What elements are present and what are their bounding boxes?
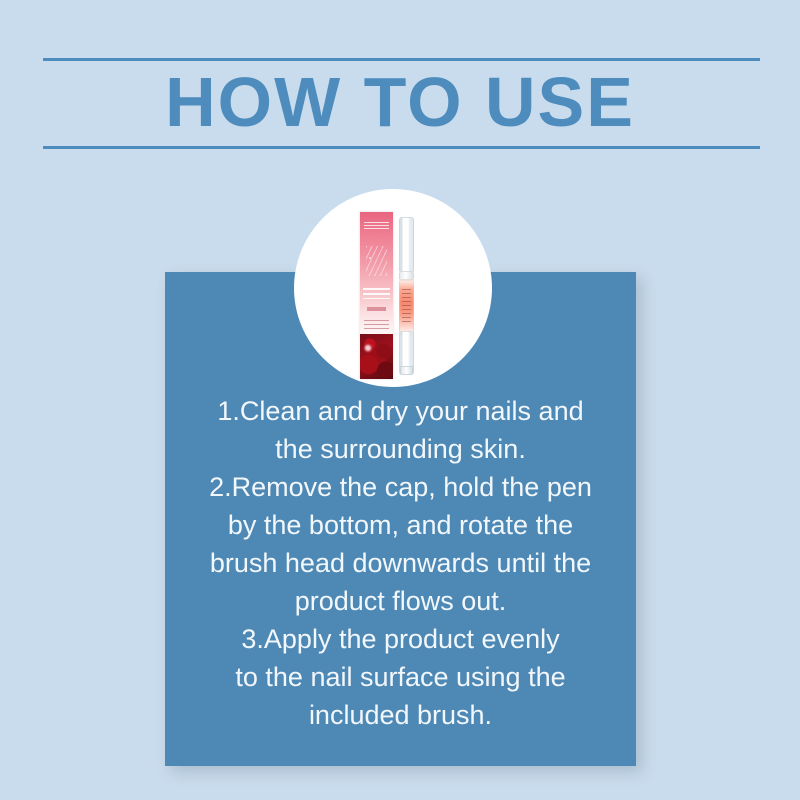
title-rule-top <box>43 58 760 61</box>
instruction-line: to the nail surface using the <box>165 658 636 696</box>
title-rule-bottom <box>43 146 760 149</box>
rose-photo <box>360 334 393 379</box>
instruction-line: 2.Remove the cap, hold the pen <box>165 468 636 506</box>
pen-end-cap <box>400 366 413 375</box>
product-pen-image <box>399 217 414 375</box>
brand-logo-mark <box>364 222 389 229</box>
instruction-line: 1.Clean and dry your nails and <box>165 392 636 430</box>
instruction-line: the surrounding skin. <box>165 430 636 468</box>
pen-cap <box>399 217 414 273</box>
instruction-line: brush head downwards until the <box>165 544 636 582</box>
instruction-line: product flows out. <box>165 582 636 620</box>
box-script-art <box>366 246 387 276</box>
instructions-list: 1.Clean and dry your nails and the surro… <box>165 392 636 734</box>
rose-highlight <box>363 343 373 353</box>
instruction-line: by the bottom, and rotate the <box>165 506 636 544</box>
box-description-text <box>364 320 389 330</box>
box-subtitle-text <box>367 307 386 311</box>
instruction-line: included brush. <box>165 696 636 734</box>
product-box-image <box>360 212 393 379</box>
page-title: HOW TO USE <box>0 62 800 142</box>
infographic-canvas: HOW TO USE 1.Clean and dry your nails an… <box>0 0 800 800</box>
box-product-name-text <box>363 288 390 299</box>
instruction-line: 3.Apply the product evenly <box>165 620 636 658</box>
pen-label-text <box>402 289 411 323</box>
product-image-circle <box>294 189 492 387</box>
